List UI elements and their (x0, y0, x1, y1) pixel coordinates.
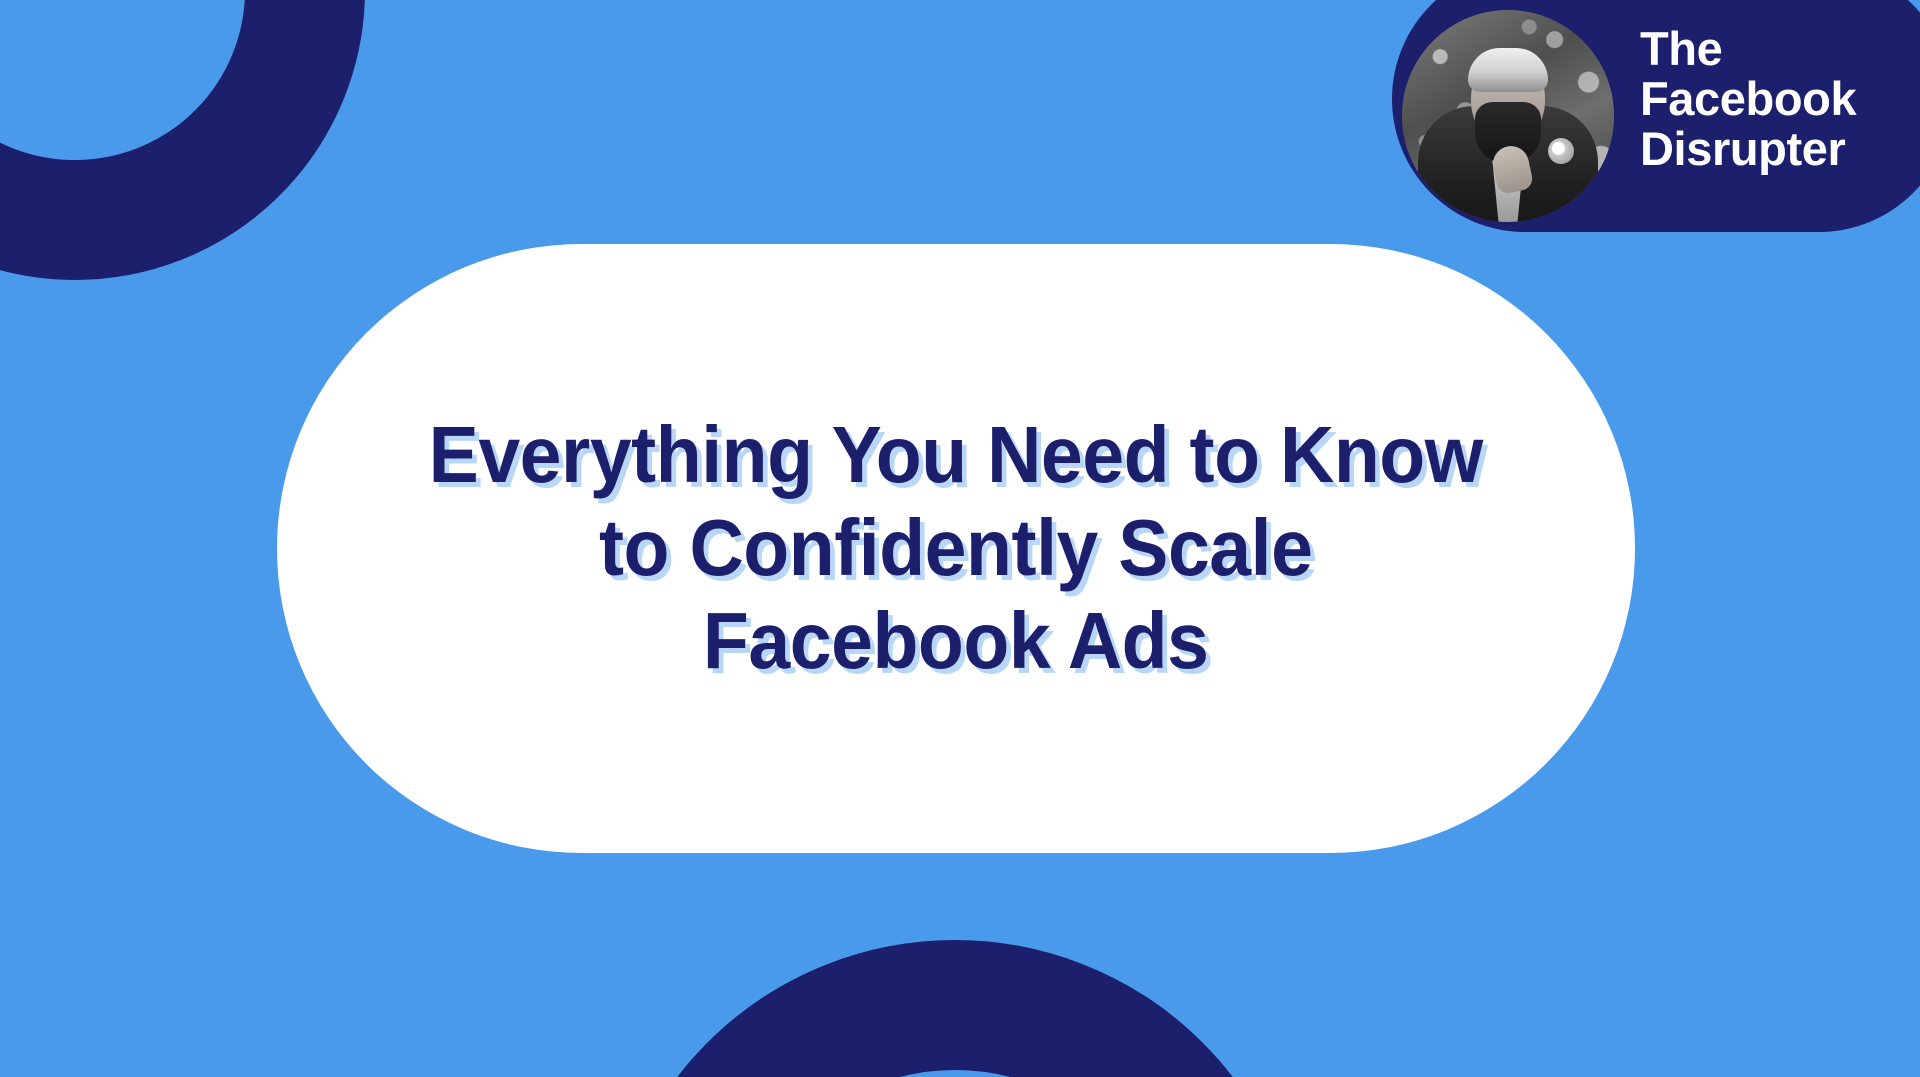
title-card: Everything You Need to Know to Confident… (277, 244, 1635, 853)
brand-name: The Facebook Disrupter (1640, 24, 1920, 175)
decorative-ring-top-left (0, 0, 365, 280)
avatar-boutonniere (1548, 138, 1574, 164)
avatar-hair (1468, 48, 1548, 92)
brand-badge: The Facebook Disrupter (1392, 0, 1920, 232)
slide-title: Everything You Need to Know to Confident… (429, 409, 1483, 687)
avatar (1402, 10, 1614, 222)
presentation-slide: Everything You Need to Know to Confident… (0, 0, 1920, 1077)
decorative-ring-bottom (605, 940, 1305, 1077)
